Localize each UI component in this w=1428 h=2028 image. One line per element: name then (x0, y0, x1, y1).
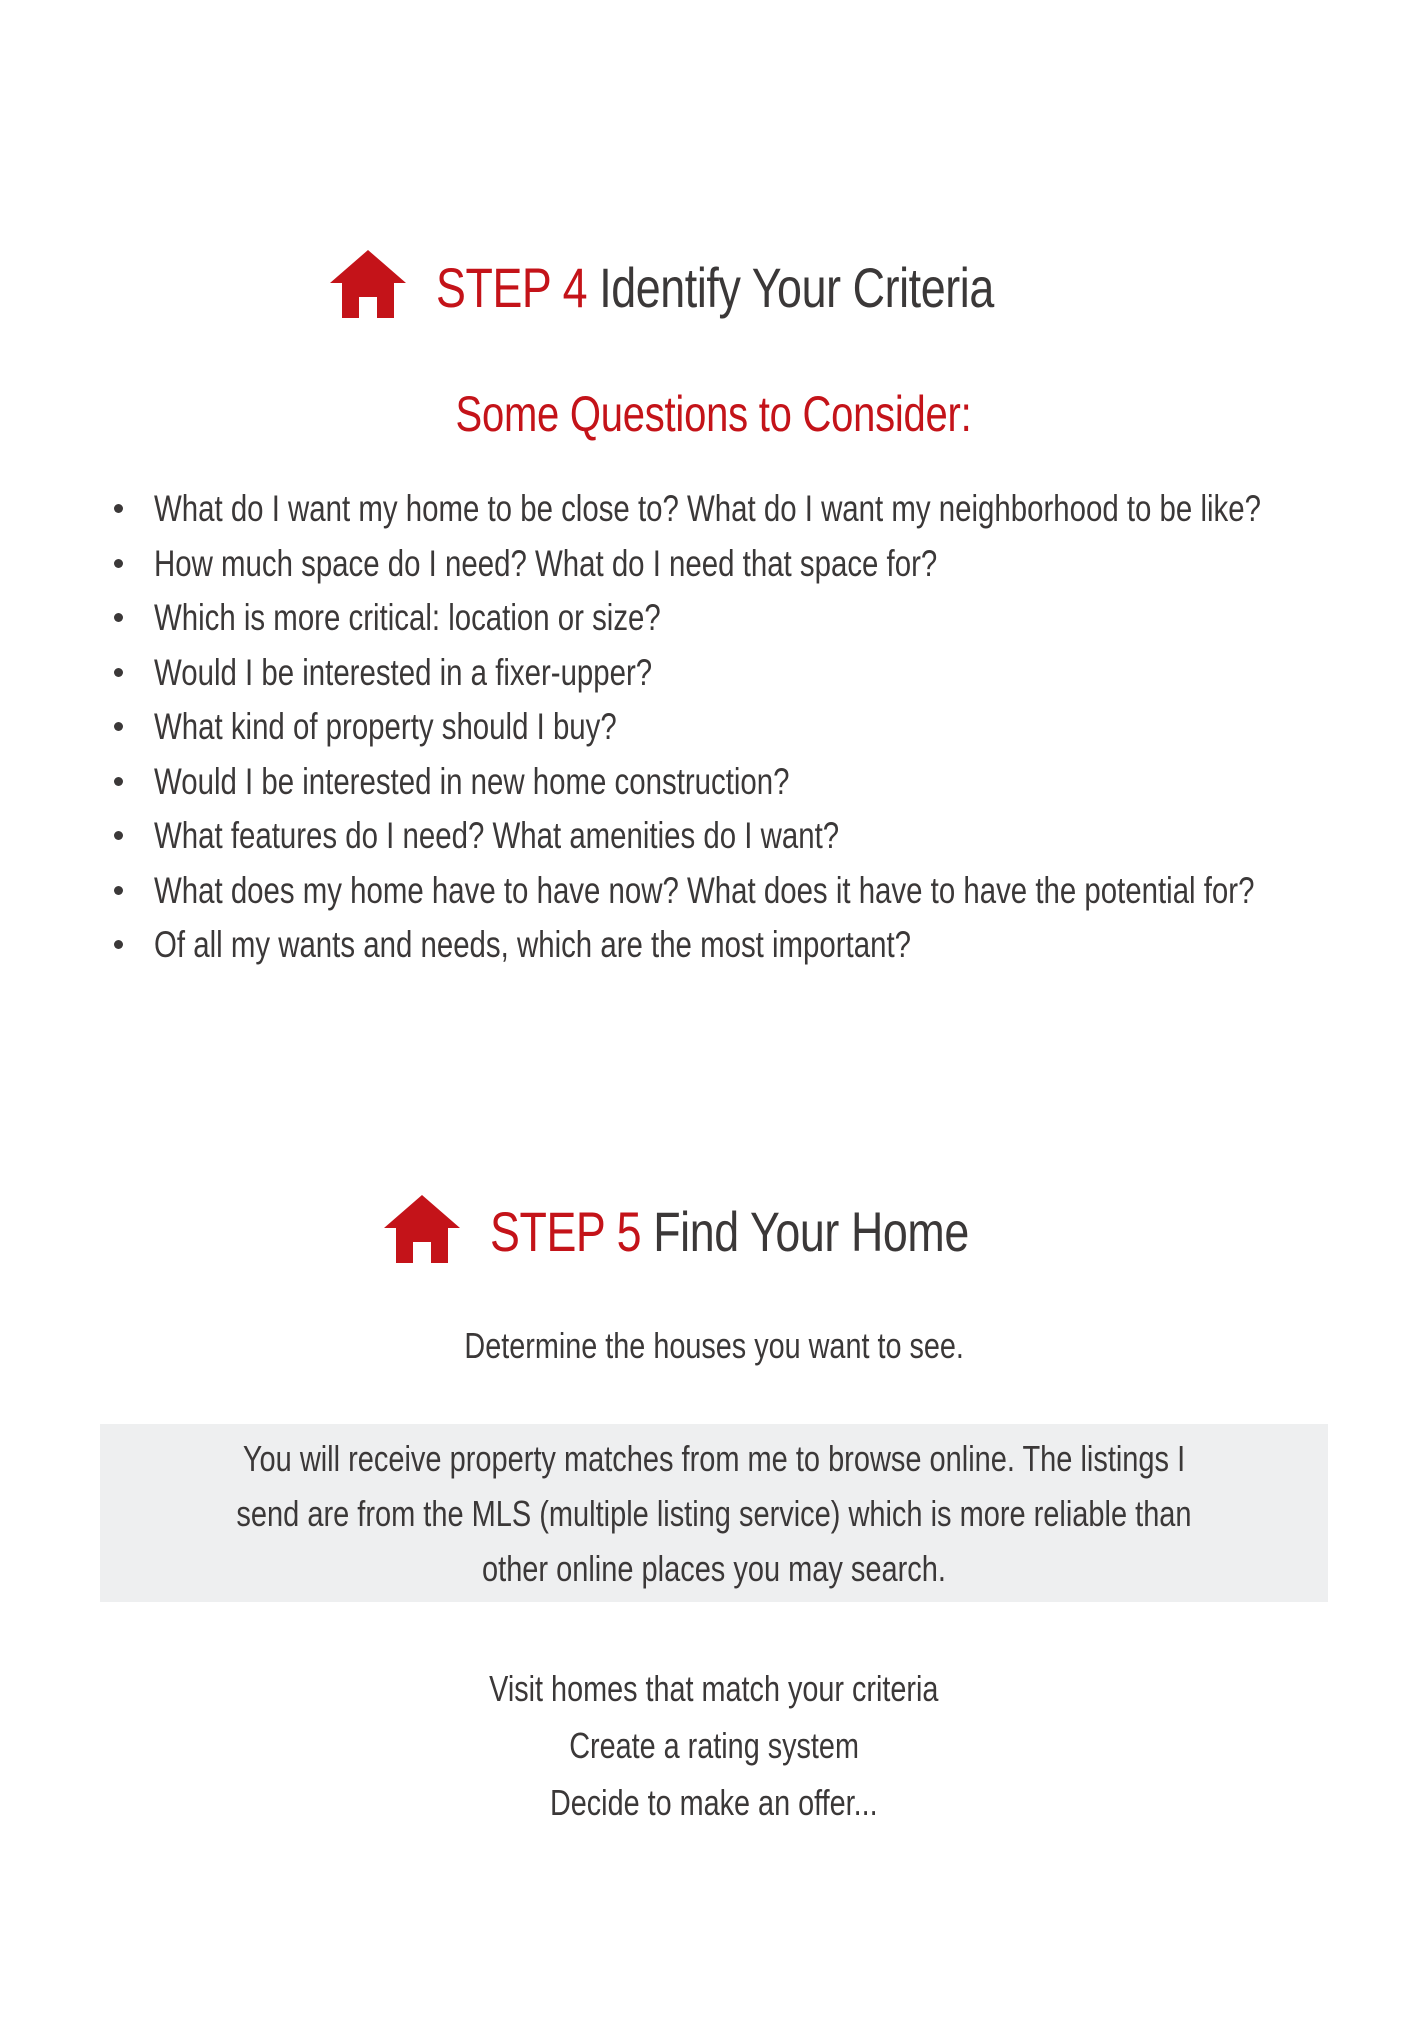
house-icon (384, 1195, 460, 1268)
list-item: How much space do I need? What do I need… (108, 537, 1358, 592)
step-5-label: STEP 5 (490, 1200, 641, 1263)
callout-line: You will receive property matches from m… (220, 1431, 1209, 1486)
step-5-title: Find Your Home (641, 1200, 969, 1263)
list-item-label: What does my home have to have now? What… (154, 864, 1360, 919)
list-item-label: Would I be interested in new home constr… (154, 755, 1360, 810)
step-5-heading: STEP 5 Find Your Home (0, 1195, 1428, 1268)
list-item: Of all my wants and needs, which are the… (108, 918, 1358, 973)
step-4-label: STEP 4 (436, 256, 587, 319)
bullet-icon (114, 668, 123, 677)
bullet-icon (114, 886, 123, 895)
list-item: What kind of property should I buy? (108, 700, 1358, 755)
bullet-icon (114, 777, 123, 786)
closing-line: Create a rating system (0, 1717, 1428, 1774)
house-icon (330, 250, 406, 323)
mls-callout-box: You will receive property matches from m… (100, 1424, 1328, 1602)
list-item: Would I be interested in new home constr… (108, 755, 1358, 810)
list-item: Which is more critical: location or size… (108, 591, 1358, 646)
closing-line: Decide to make an offer... (0, 1774, 1428, 1831)
closing-line-text: Decide to make an offer... (550, 1774, 878, 1831)
list-item: What do I want my home to be close to? W… (108, 482, 1358, 537)
list-item-label: What kind of property should I buy? (154, 700, 1360, 755)
list-item: What features do I need? What amenities … (108, 809, 1358, 864)
closing-line-text: Visit homes that match your criteria (489, 1660, 938, 1717)
list-item-label: How much space do I need? What do I need… (154, 537, 1360, 592)
step-5-intro-text: Determine the houses you want to see. (464, 1325, 963, 1367)
step-5-closing-lines: Visit homes that match your criteria Cre… (0, 1660, 1428, 1831)
bullet-icon (114, 559, 123, 568)
bullet-icon (114, 613, 123, 622)
bullet-icon (114, 940, 123, 949)
page-root: STEP 4 Identify Your Criteria Some Quest… (0, 0, 1428, 2028)
list-item-label: What do I want my home to be close to? W… (154, 482, 1360, 537)
closing-line-text: Create a rating system (569, 1717, 859, 1774)
callout-line: other online places you may search. (220, 1541, 1209, 1596)
list-item: What does my home have to have now? What… (108, 864, 1358, 919)
mls-callout-text: You will receive property matches from m… (220, 1431, 1209, 1596)
step-4-heading: STEP 4 Identify Your Criteria (0, 250, 1428, 325)
criteria-question-list: What do I want my home to be close to? W… (108, 482, 1358, 973)
closing-line: Visit homes that match your criteria (0, 1660, 1428, 1717)
step-5-title-text: STEP 5 Find Your Home (490, 1199, 969, 1264)
callout-line: send are from the MLS (multiple listing … (220, 1486, 1209, 1541)
questions-subtitle: Some Questions to Consider: (0, 385, 1428, 443)
step-4-title-text: STEP 4 Identify Your Criteria (436, 255, 994, 320)
questions-subtitle-text: Some Questions to Consider: (456, 385, 972, 443)
bullet-icon (114, 831, 123, 840)
list-item-label: Of all my wants and needs, which are the… (154, 918, 1360, 973)
bullet-icon (114, 722, 123, 731)
list-item-label: Which is more critical: location or size… (154, 591, 1360, 646)
step-4-title: Identify Your Criteria (588, 256, 995, 319)
step-5-intro: Determine the houses you want to see. (0, 1325, 1428, 1367)
list-item-label: Would I be interested in a fixer-upper? (154, 646, 1360, 701)
list-item-label: What features do I need? What amenities … (154, 809, 1360, 864)
list-item: Would I be interested in a fixer-upper? (108, 646, 1358, 701)
bullet-icon (114, 504, 123, 513)
